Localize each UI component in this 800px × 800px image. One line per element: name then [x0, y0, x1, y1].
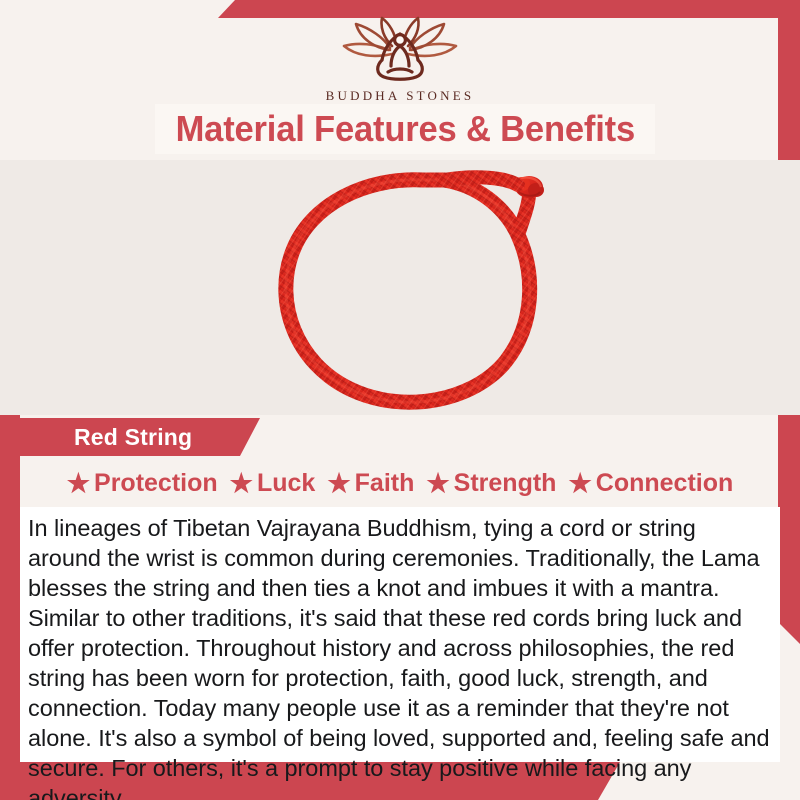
brand-wordmark: BUDDHA STONES [0, 88, 800, 104]
star-icon: ★ [426, 470, 449, 496]
star-icon: ★ [230, 470, 253, 496]
braided-red-string-bracelet [248, 165, 578, 415]
benefit-strength: ★ Strength [426, 469, 556, 498]
benefit-label: Luck [257, 469, 315, 498]
star-icon: ★ [67, 470, 90, 496]
benefit-label: Strength [454, 469, 557, 498]
benefit-protection: ★ Protection [67, 469, 218, 498]
page-title: Material Features & Benefits [175, 108, 634, 150]
star-icon: ★ [568, 470, 591, 496]
benefit-faith: ★ Faith [327, 469, 414, 498]
red-string-bracelet-photo [0, 160, 800, 415]
material-name-ribbon: Red String [20, 418, 260, 456]
description-text: In lineages of Tibetan Vajrayana Buddhis… [28, 513, 772, 800]
material-name-label: Red String [74, 424, 192, 451]
lotus-meditation-icon [330, 14, 470, 86]
star-icon: ★ [327, 470, 350, 496]
description-panel: In lineages of Tibetan Vajrayana Buddhis… [20, 507, 780, 762]
brand-logo: BUDDHA STONES [0, 14, 800, 104]
benefit-connection: ★ Connection [568, 469, 733, 498]
benefit-luck: ★ Luck [230, 469, 316, 498]
title-band: Material Features & Benefits [155, 104, 655, 154]
infographic-poster: BUDDHA STONES Material Features & Benefi… [0, 0, 800, 800]
benefit-label: Faith [355, 469, 415, 498]
benefits-row: ★ Protection ★ Luck ★ Faith ★ Strength ★… [20, 462, 780, 504]
benefit-label: Connection [596, 469, 734, 498]
benefit-label: Protection [94, 469, 218, 498]
